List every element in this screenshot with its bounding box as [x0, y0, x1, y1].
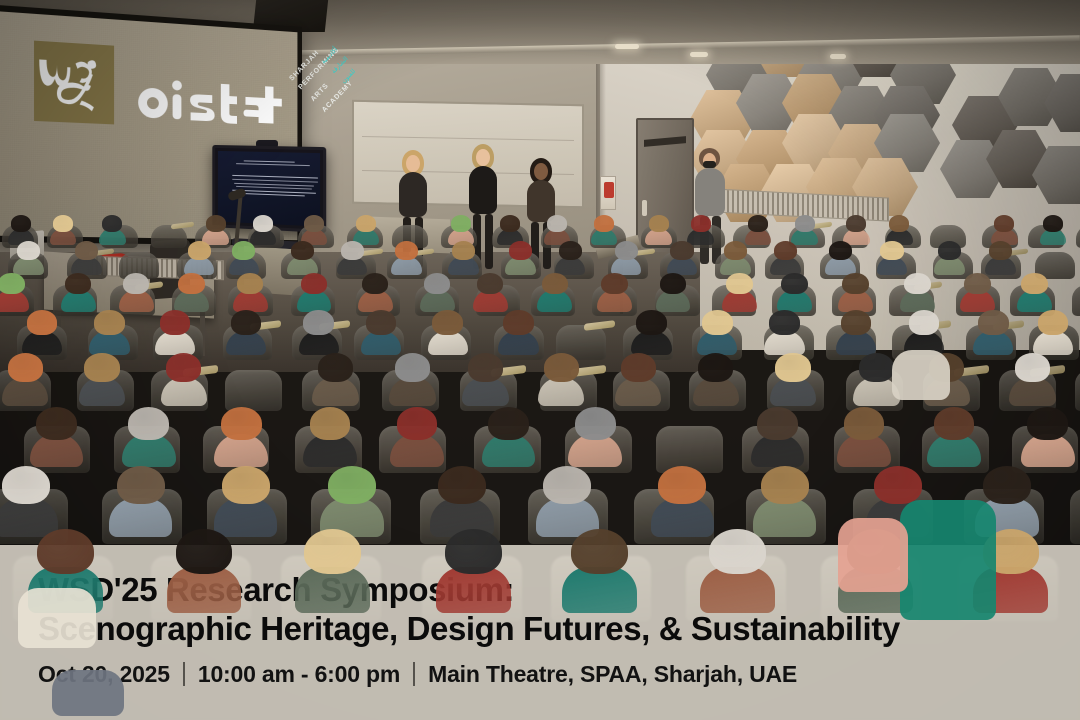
audience-member: [0, 273, 25, 307]
audience-member: [934, 407, 975, 460]
audience-member: [123, 273, 149, 307]
audience-member-head: [880, 241, 903, 260]
door-window: [644, 136, 686, 147]
audience-member-head: [488, 407, 529, 440]
audience-member: [94, 310, 124, 350]
audience-member-head: [468, 353, 503, 381]
audience-member-head: [761, 466, 809, 505]
audience-member-head: [304, 215, 324, 231]
audience-member-head: [698, 353, 733, 381]
wsd-logo: [34, 41, 114, 125]
spaa-line-arts: ARTS: [310, 82, 330, 103]
audience-member-head: [874, 466, 922, 505]
audience-member-head: [362, 273, 388, 294]
audience-member: [978, 310, 1008, 350]
audience-member: [989, 241, 1012, 271]
audience-member-head: [844, 407, 885, 440]
audience-member-head: [670, 241, 693, 260]
audience-member-head: [237, 273, 263, 294]
audience-member-head: [310, 407, 351, 440]
audience-member: [601, 273, 627, 307]
audience-member-head: [978, 310, 1008, 334]
audience-member: [1038, 310, 1068, 350]
audience-member-head: [889, 215, 909, 231]
audience-member-head: [65, 273, 91, 294]
audience-member-head: [11, 215, 31, 231]
wsd-logo-glyph: [34, 41, 114, 125]
meta-separator: [183, 662, 185, 686]
audience-member-head: [166, 353, 201, 381]
audience-member-head: [53, 215, 73, 231]
teal-jacket-attendee: [900, 500, 996, 620]
audience-member: [544, 353, 579, 399]
audience-member-head: [964, 273, 990, 294]
audience-member-head: [748, 215, 768, 231]
audience-member-head: [594, 215, 614, 231]
audience-member: [65, 273, 91, 307]
audience-member-head: [84, 353, 119, 381]
ceiling-downlight: [615, 44, 639, 49]
audience-member-head: [660, 273, 686, 294]
fold-out-tray-table: [584, 320, 615, 331]
theatre-seat: [1070, 489, 1080, 544]
audience-member: [795, 215, 815, 241]
audience-member: [542, 273, 568, 307]
audience-member-head: [160, 310, 190, 334]
audience-member-head: [781, 273, 807, 294]
audience-member-head: [544, 353, 579, 381]
slide-text-line: [238, 193, 306, 197]
title-line-2: Scenographic Heritage, Design Futures, &…: [38, 610, 1042, 648]
audience-member: [571, 529, 628, 603]
audience-member: [232, 241, 255, 271]
audience-member: [176, 529, 233, 603]
audience-member: [846, 215, 866, 241]
audience-member: [509, 241, 532, 271]
audience-member: [726, 273, 752, 307]
audience-member: [160, 310, 190, 350]
audience-member: [781, 273, 807, 307]
audience-member-head: [649, 215, 669, 231]
audience-member: [698, 353, 733, 399]
audience-member: [117, 466, 165, 528]
audience-member: [503, 310, 533, 350]
audience-member: [964, 273, 990, 307]
audience-member-head: [94, 310, 124, 334]
audience-member: [660, 273, 686, 307]
face-mask: [703, 161, 716, 168]
audience-member: [724, 241, 747, 271]
audience-member-head: [559, 241, 582, 260]
theatre-seat: [1075, 370, 1080, 410]
audience-member-head: [503, 310, 533, 334]
audience-member-head: [601, 273, 627, 294]
audience-member: [128, 407, 169, 460]
audience-member: [748, 215, 768, 241]
audience-member-head: [543, 466, 591, 505]
theatre-seat: [151, 225, 187, 248]
coral-dress-attendee: [838, 518, 908, 592]
audience-member-head: [846, 215, 866, 231]
audience-member-head: [500, 215, 520, 231]
audience-member-head: [232, 241, 255, 260]
audience-member: [761, 466, 809, 528]
audience-member: [221, 407, 262, 460]
audience-member-head: [37, 529, 94, 575]
audience-member: [859, 353, 894, 399]
audience-member-head: [432, 310, 462, 334]
slide-text-line: [244, 160, 295, 163]
audience-member-head: [841, 310, 871, 334]
audience-member: [477, 273, 503, 307]
audience-member-head: [1038, 310, 1068, 334]
audience-member-head: [253, 215, 273, 231]
audience-member: [829, 241, 852, 271]
audience-member-head: [221, 407, 262, 440]
audience-member: [1015, 353, 1050, 399]
audience-member: [432, 310, 462, 350]
audience-member: [649, 215, 669, 241]
audience-member: [889, 215, 909, 241]
audience-member: [304, 529, 361, 603]
audience-member-head: [117, 466, 165, 505]
audience-member-head: [395, 241, 418, 260]
audience-member-head: [341, 241, 364, 260]
audience-member-head: [1015, 353, 1050, 381]
audience-member-head: [724, 241, 747, 260]
audience-member-head: [904, 273, 930, 294]
audience-member-head: [615, 241, 638, 260]
audience-member-head: [575, 407, 616, 440]
audience-member: [757, 407, 798, 460]
audience-member-head: [438, 466, 486, 505]
audience-member: [188, 241, 211, 271]
audience-member-head: [658, 466, 706, 505]
audience-member: [842, 273, 868, 307]
audience-member-head: [291, 241, 314, 260]
audience-member-head: [769, 310, 799, 334]
audience-member: [397, 407, 438, 460]
audience-member-head: [983, 466, 1031, 505]
audience-member-head: [27, 310, 57, 334]
audience-member-head: [829, 241, 852, 260]
audience-member: [452, 241, 475, 271]
audience-member-head: [2, 466, 50, 505]
audience-member-head: [621, 353, 656, 381]
audience-member-head: [571, 529, 628, 575]
audience-member: [36, 407, 77, 460]
audience-member-head: [547, 215, 567, 231]
floral-shirt-attendee: [18, 588, 96, 648]
slide-text-line: [236, 163, 310, 166]
audience-member-head: [222, 466, 270, 505]
audience-member: [702, 310, 732, 350]
audience-member: [424, 273, 450, 307]
theatre-seat: [225, 370, 282, 410]
audience-member-head: [356, 215, 376, 231]
audience-member-head: [909, 310, 939, 334]
event-venue: Main Theatre, SPAA, Sharjah, UAE: [428, 661, 797, 688]
audience-member: [395, 241, 418, 271]
audience-member: [303, 310, 333, 350]
audience-member: [844, 407, 885, 460]
audience-member: [938, 241, 961, 271]
audience-member-head: [304, 529, 361, 575]
audience-member-head: [452, 241, 475, 260]
audience-member: [318, 353, 353, 399]
audience-member: [709, 529, 766, 603]
audience-member: [438, 466, 486, 528]
audience-member: [575, 407, 616, 460]
audience-member-head: [188, 241, 211, 260]
audience-member-head: [17, 241, 40, 260]
audience-member-head: [451, 215, 471, 231]
laptop-screen: [892, 350, 950, 400]
audience-member: [488, 407, 529, 460]
audience-member-head: [301, 273, 327, 294]
audience-member-head: [934, 407, 975, 440]
cap-wearing-attendee: [52, 670, 124, 716]
audience-member: [27, 310, 57, 350]
audience-member-head: [395, 353, 430, 381]
theatre-seat: [1076, 225, 1080, 248]
audience-member: [775, 353, 810, 399]
audience-member: [178, 273, 204, 307]
audience-member: [253, 215, 273, 241]
audience-member: [356, 215, 376, 241]
audience-member-head: [397, 407, 438, 440]
audience-member: [2, 466, 50, 528]
audience-member: [237, 273, 263, 307]
audience-member-head: [774, 241, 797, 260]
audience-member-head: [509, 241, 532, 260]
theatre-seat: [1072, 285, 1080, 315]
audience-member: [102, 215, 122, 241]
audience-member: [328, 466, 376, 528]
audience-member: [445, 529, 502, 603]
audience-member: [366, 310, 396, 350]
audience-member-head: [542, 273, 568, 294]
audience-member: [769, 310, 799, 350]
audience-member-head: [757, 407, 798, 440]
audience-member-head: [75, 241, 98, 260]
oistat-wordmark: [131, 73, 284, 136]
audience-member: [301, 273, 327, 307]
event-time: 10:00 am - 6:00 pm: [198, 661, 400, 688]
audience-member-head: [328, 466, 376, 505]
audience-member: [8, 353, 43, 399]
audience-member-head: [123, 273, 149, 294]
audience-member-head: [477, 273, 503, 294]
audience-member: [11, 215, 31, 241]
audience-member: [206, 215, 226, 241]
audience-member: [559, 241, 582, 271]
audience-member: [362, 273, 388, 307]
audience-member: [500, 215, 520, 241]
audience-member-head: [842, 273, 868, 294]
audience-member: [841, 310, 871, 350]
audience-member-head: [318, 353, 353, 381]
audience-member: [222, 466, 270, 528]
ceiling-downlight: [690, 52, 708, 57]
audience-member-head: [36, 407, 77, 440]
audience-member-head: [366, 310, 396, 334]
audience-member-head: [994, 215, 1014, 231]
audience-member-head: [206, 215, 226, 231]
audience-member-head: [178, 273, 204, 294]
audience-member-head: [691, 215, 711, 231]
audience-member-head: [128, 407, 169, 440]
audience-member-head: [636, 310, 666, 334]
audience-member: [994, 215, 1014, 241]
audience-member-head: [8, 353, 43, 381]
audience-member: [594, 215, 614, 241]
audience-member: [53, 215, 73, 241]
event-poster: SHARJAH PERFORMING ARTS ACADEMY أكاديمية…: [0, 0, 1080, 720]
audience-member: [543, 466, 591, 528]
meta-separator: [413, 662, 415, 686]
audience-member-head: [0, 273, 25, 294]
audience-member-head: [795, 215, 815, 231]
audience-member-head: [989, 241, 1012, 260]
audience-member: [166, 353, 201, 399]
audience-member: [17, 241, 40, 271]
audience-member: [341, 241, 364, 271]
audience-member: [1043, 215, 1063, 241]
audience-member-head: [176, 529, 233, 575]
audience-member: [310, 407, 351, 460]
audience-member-head: [1021, 273, 1047, 294]
audience-member-head: [102, 215, 122, 231]
presenter-head: [534, 163, 548, 180]
audience-member-head: [303, 310, 333, 334]
audience-member: [909, 310, 939, 350]
audience-member: [636, 310, 666, 350]
audience-member: [904, 273, 930, 307]
audience-member-head: [1043, 215, 1063, 231]
audience-member: [84, 353, 119, 399]
audience-member: [1027, 407, 1068, 460]
audience-member: [658, 466, 706, 528]
presenter-head: [476, 149, 490, 166]
audience-member-head: [709, 529, 766, 575]
audience-member-head: [775, 353, 810, 381]
audience-member-head: [726, 273, 752, 294]
slide-text-line: [232, 179, 318, 183]
audience-member-head: [1027, 407, 1068, 440]
audience-member: [304, 215, 324, 241]
audience-member: [621, 353, 656, 399]
audience-member: [691, 215, 711, 241]
audience-member: [231, 310, 261, 350]
audience-member-head: [424, 273, 450, 294]
audience-member: [670, 241, 693, 271]
audience-member-head: [445, 529, 502, 575]
audience-member: [1021, 273, 1047, 307]
audience-member-head: [702, 310, 732, 334]
audience-member: [880, 241, 903, 271]
audience-member: [291, 241, 314, 271]
audience-member-head: [859, 353, 894, 381]
audience-member: [547, 215, 567, 241]
ceiling-downlight: [830, 54, 846, 59]
audience-member: [615, 241, 638, 271]
audience-member-head: [938, 241, 961, 260]
audience-member: [75, 241, 98, 271]
audience-member: [774, 241, 797, 271]
presenter-head: [406, 155, 420, 172]
audience-member: [468, 353, 503, 399]
audience-member: [451, 215, 471, 241]
audience-member-head: [231, 310, 261, 334]
audience-member: [395, 353, 430, 399]
event-meta: Oct 20, 2025 10:00 am - 6:00 pm Main The…: [38, 661, 1042, 688]
